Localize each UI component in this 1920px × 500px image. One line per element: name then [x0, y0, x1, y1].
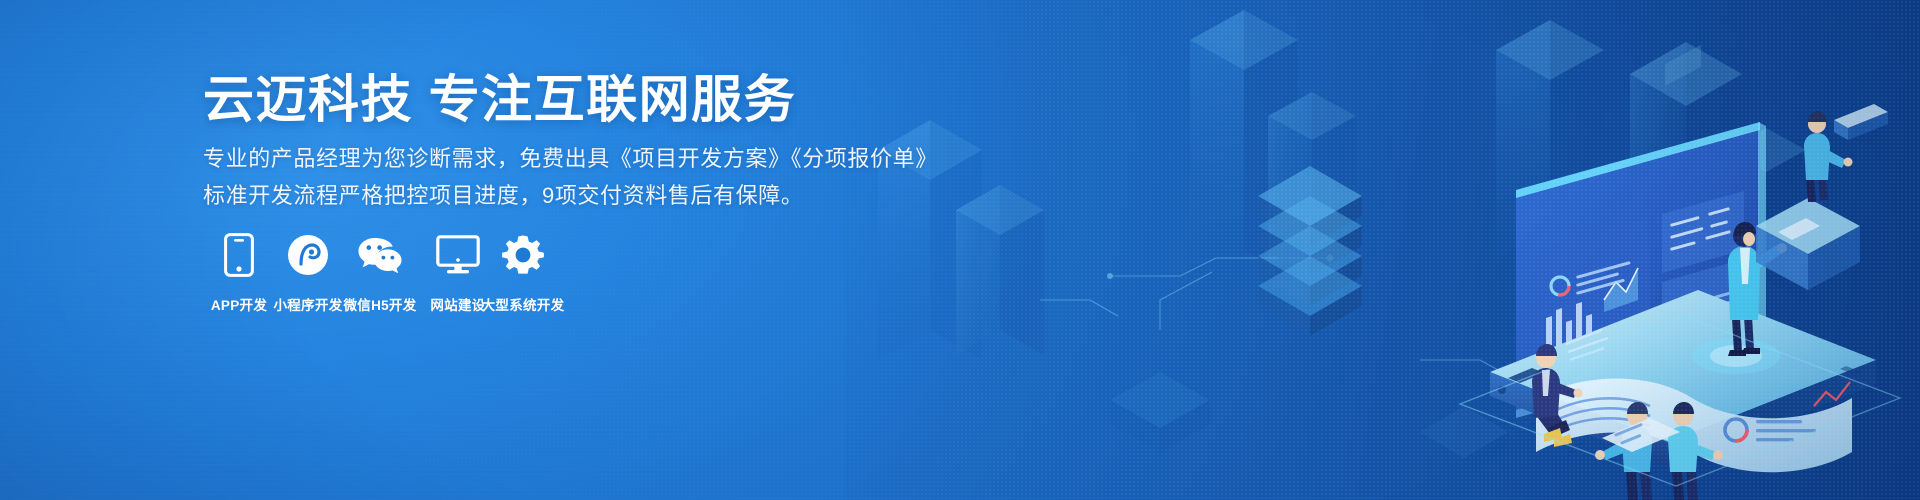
service-list: APP开发 小程序开发 [203, 232, 603, 322]
banner-headline: 云迈科技 专注互联网服务 [203, 72, 796, 127]
service-label: APP开发 [211, 294, 267, 314]
monitor-icon [436, 232, 480, 278]
banner-content: 云迈科技 专注互联网服务 专业的产品经理为您诊断需求，免费出具《项目开发方案》《… [203, 0, 963, 500]
banner-subtitle-line-1: 专业的产品经理为您诊断需求，免费出具《项目开发方案》《分项报价单》 [203, 148, 938, 170]
service-item-app[interactable]: APP开发 [203, 232, 275, 314]
hero-banner: 云迈科技 专注互联网服务 专业的产品经理为您诊断需求，免费出具《项目开发方案》《… [0, 0, 1920, 500]
service-label: 小程序开发 [274, 294, 343, 314]
service-label: 大型系统开发 [482, 294, 565, 314]
service-item-system[interactable]: 大型系统开发 [487, 232, 559, 314]
banner-subtitle-line-2: 标准开发流程严格把控项目进度，9项交付资料售后有保障。 [203, 185, 803, 207]
service-item-miniprogram[interactable]: 小程序开发 [272, 232, 344, 314]
service-label: 网站建设 [430, 294, 485, 314]
gear-icon [502, 232, 544, 278]
wechat-icon [357, 232, 403, 278]
smartphone-icon [224, 232, 254, 278]
miniprogram-icon [286, 232, 330, 278]
service-label: 微信H5开发 [343, 294, 416, 314]
service-item-wechat[interactable]: 微信H5开发 [344, 232, 416, 314]
